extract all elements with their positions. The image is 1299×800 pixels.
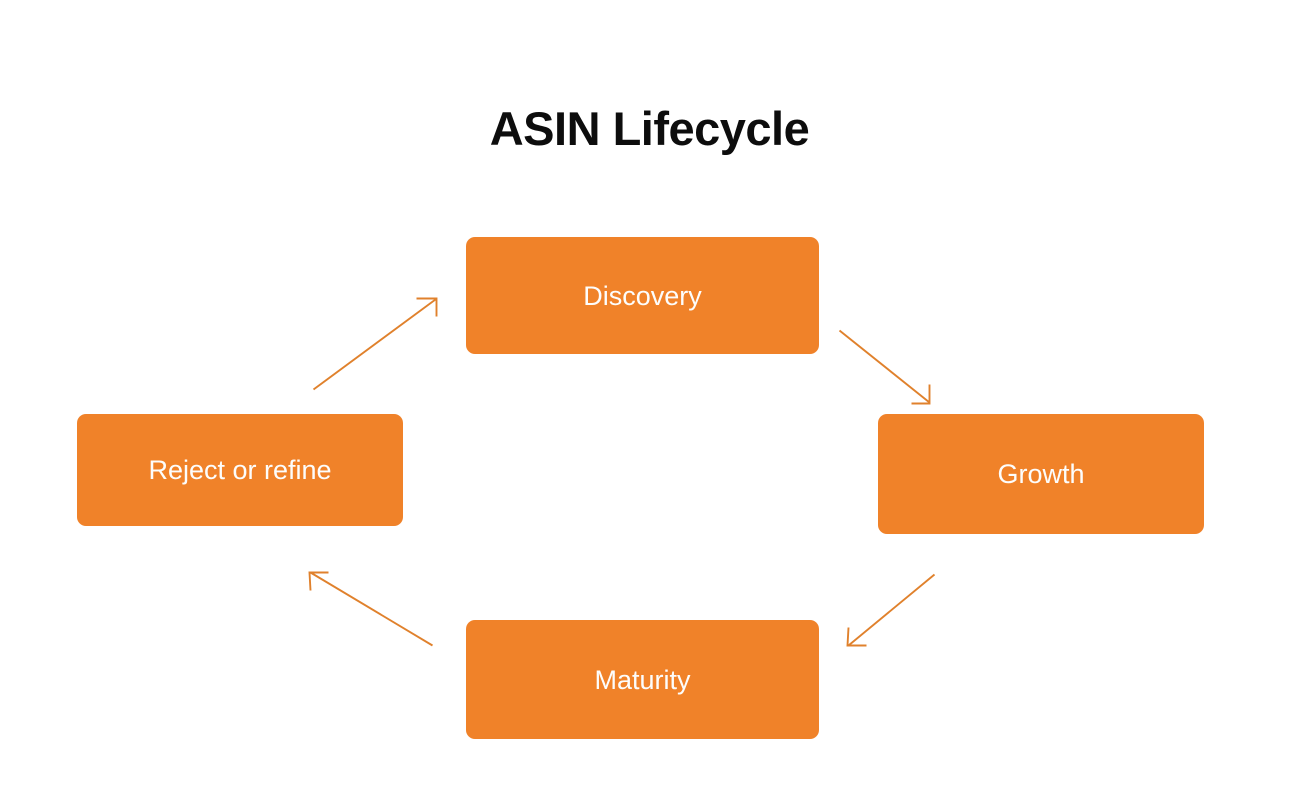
arrow-reject-to-discovery (314, 299, 437, 390)
node-growth[interactable]: Growth (878, 414, 1204, 534)
node-maturity[interactable]: Maturity (466, 620, 819, 739)
page-title: ASIN Lifecycle (0, 99, 1299, 159)
arrow-growth-to-maturity (848, 575, 935, 646)
node-reject-or-refine[interactable]: Reject or refine (77, 414, 403, 526)
node-discovery[interactable]: Discovery (466, 237, 819, 354)
node-growth-label: Growth (997, 458, 1084, 490)
node-maturity-label: Maturity (594, 664, 690, 696)
diagram-canvas: ASIN Lifecycle Discovery Growth Maturity (0, 0, 1299, 800)
arrow-discovery-to-growth (840, 331, 930, 404)
arrow-maturity-to-reject (310, 573, 433, 646)
node-discovery-label: Discovery (583, 280, 702, 312)
node-reject-or-refine-label: Reject or refine (148, 454, 331, 486)
